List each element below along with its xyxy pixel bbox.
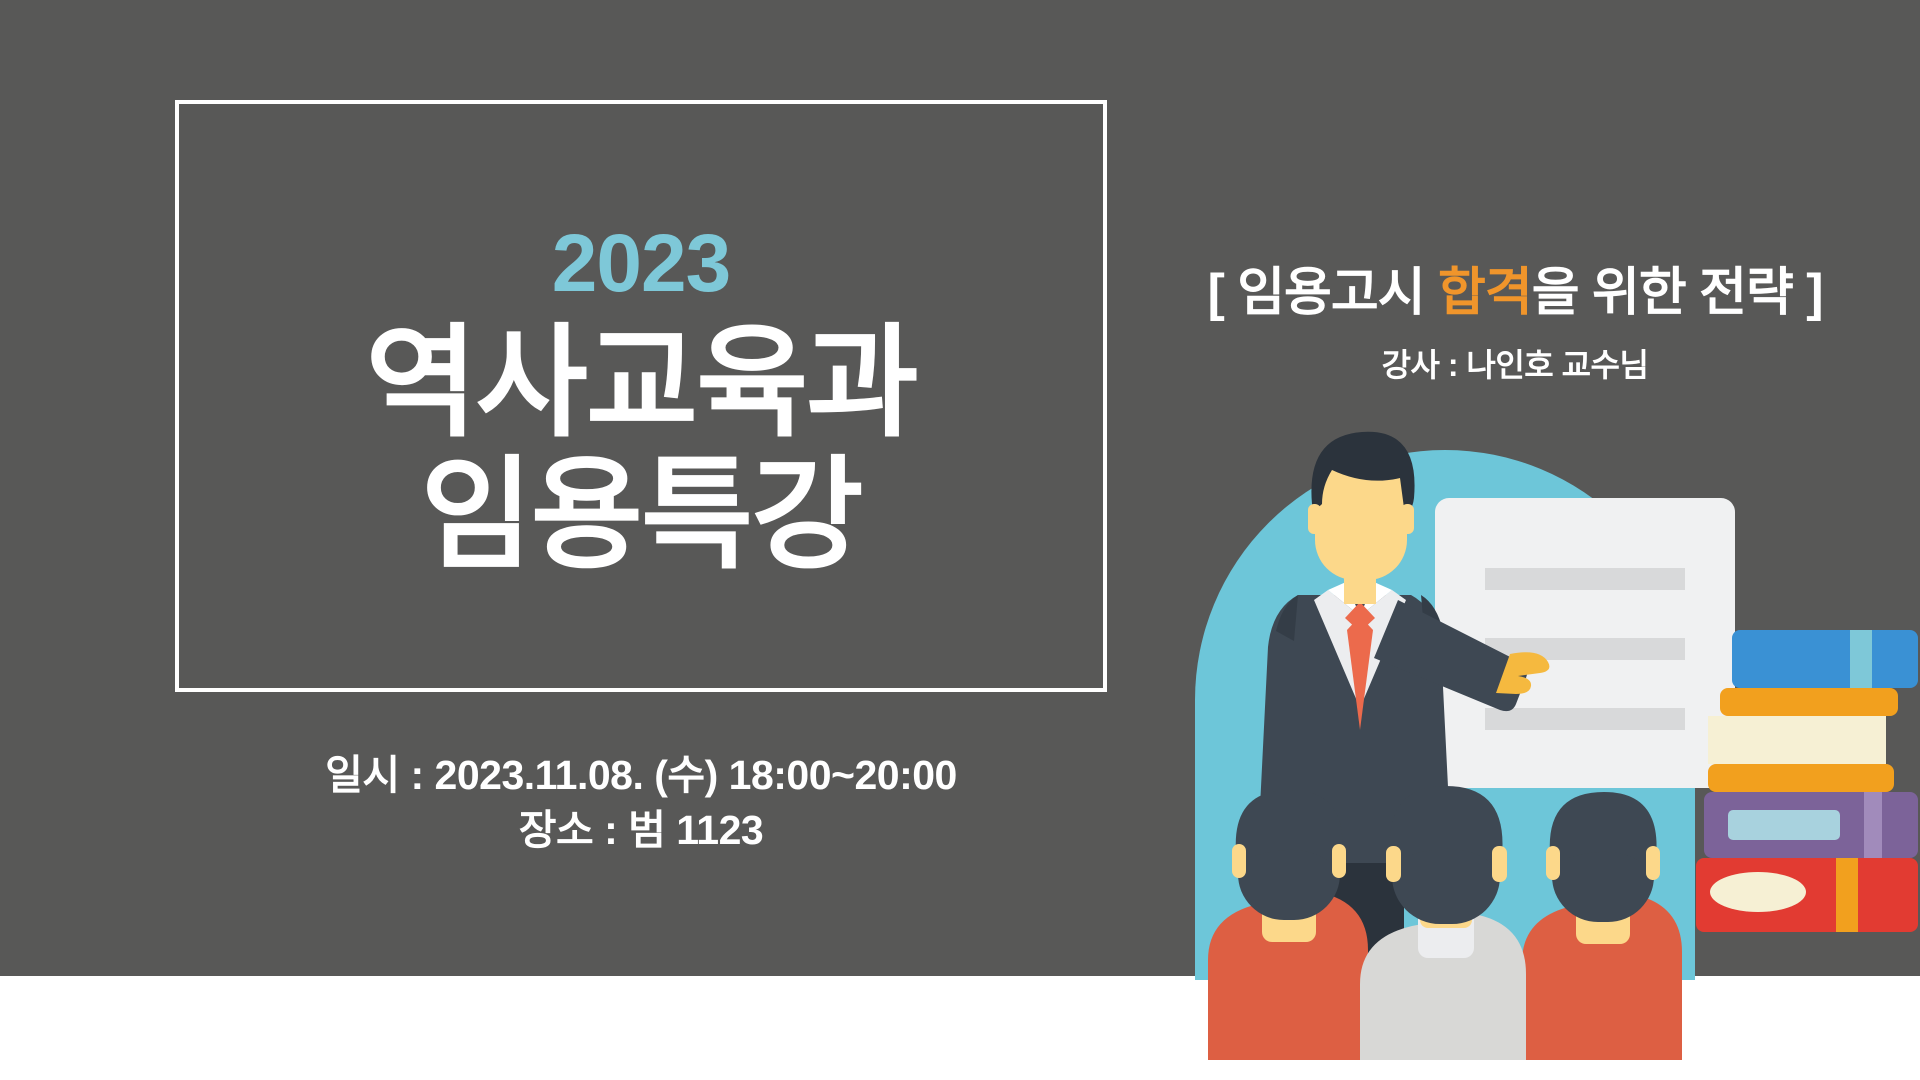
book-cream bbox=[1708, 688, 1898, 792]
title-frame-border: 2023 역사교육과 임용특강 bbox=[175, 100, 1107, 692]
title-line-1: 역사교육과 bbox=[365, 319, 916, 447]
year-label: 2023 bbox=[552, 223, 730, 305]
title-block: 2023 역사교육과 임용특강 bbox=[179, 104, 1103, 688]
book-red bbox=[1696, 858, 1918, 932]
audience-group bbox=[1208, 786, 1682, 1060]
poster-canvas: 2023 역사교육과 임용특강 일시 : 2023.11.08. (수) 18:… bbox=[0, 0, 1920, 1080]
book-blue bbox=[1732, 630, 1918, 688]
event-datetime: 일시 : 2023.11.08. (수) 18:00~20:00 bbox=[175, 748, 1107, 803]
event-details: 일시 : 2023.11.08. (수) 18:00~20:00 장소 : 범 … bbox=[175, 748, 1107, 859]
title-line-2: 임용특강 bbox=[421, 451, 862, 579]
headline-text: [ 임용고시 합격을 위한 전략 ] bbox=[1110, 250, 1920, 325]
headline-highlight: 합격 bbox=[1438, 264, 1532, 322]
lecture-illustration bbox=[1180, 400, 1920, 1060]
book-purple bbox=[1704, 792, 1918, 858]
speaker-label: 강사 : 나인호 교수님 bbox=[1110, 340, 1920, 386]
headline-suffix: 을 위한 전략 ] bbox=[1532, 264, 1823, 322]
event-location: 장소 : 범 1123 bbox=[175, 803, 1107, 858]
headline-prefix: [ 임용고시 bbox=[1207, 264, 1438, 322]
